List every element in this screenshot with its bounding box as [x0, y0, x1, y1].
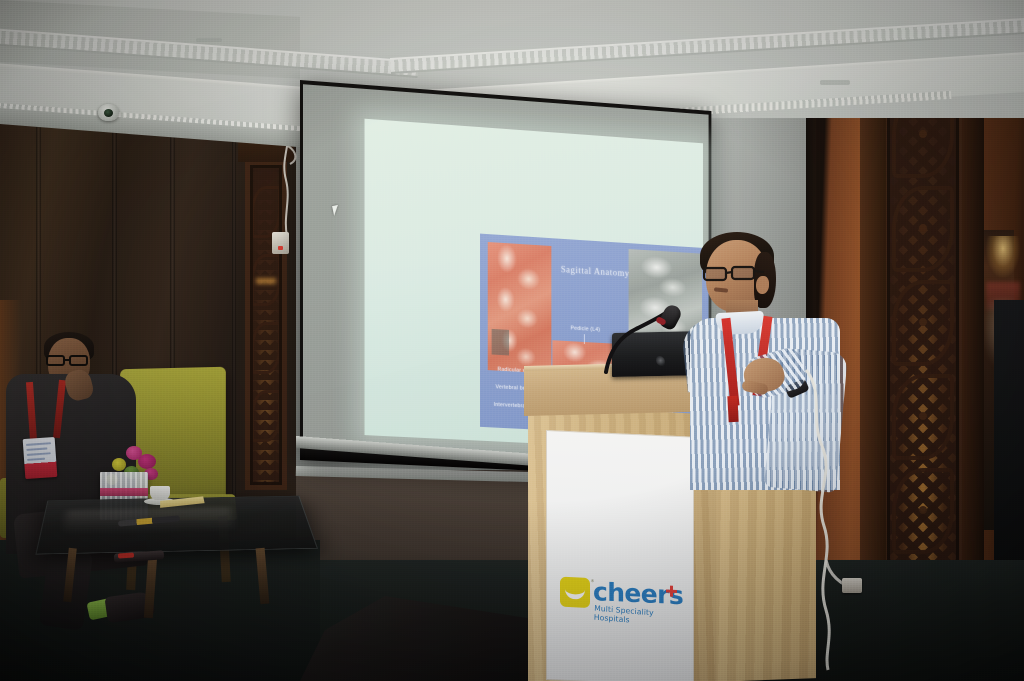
slide-callout-pedicle: Pedicle (L4)	[571, 326, 601, 334]
mouse-cursor-icon	[332, 204, 344, 216]
security-camera-lens-icon	[104, 109, 113, 117]
lectern-branding-panel: ® cheers Multi Speciality Hospitals	[546, 430, 694, 681]
wall-outlet-indicator	[278, 246, 283, 250]
lattice-backlight	[256, 278, 276, 284]
eyeglasses-icon	[44, 352, 96, 370]
smile-icon	[565, 588, 585, 600]
floor-outlet[interactable]	[842, 578, 862, 593]
ceiling-vent	[196, 38, 222, 42]
lattice-screen-right-stile	[962, 48, 984, 628]
podium-power-cable	[780, 370, 850, 670]
floor-cable	[800, 560, 880, 610]
coffee-cup	[150, 486, 170, 500]
background-black-column	[994, 300, 1024, 560]
speaker-lanyard-drop	[727, 396, 738, 422]
wall-panel-seam	[232, 126, 236, 556]
conference-photograph: Sagittal Anatomy Pedicle (L4) Radicular …	[0, 0, 1024, 681]
image-artifact	[492, 329, 509, 356]
cheers-logo-mark-icon	[560, 577, 590, 608]
plus-icon	[666, 585, 677, 596]
ceiling-vent	[820, 80, 850, 85]
lattice-screen-right	[880, 58, 966, 618]
cheers-logo: ® cheers Multi Speciality Hospitals	[560, 575, 682, 635]
wall-outlet-box[interactable]	[272, 232, 289, 254]
lattice-screen-right-stile	[860, 48, 886, 628]
chandelier-background	[986, 236, 1020, 278]
conference-badge	[23, 437, 58, 479]
eyeglasses-icon	[700, 262, 766, 286]
